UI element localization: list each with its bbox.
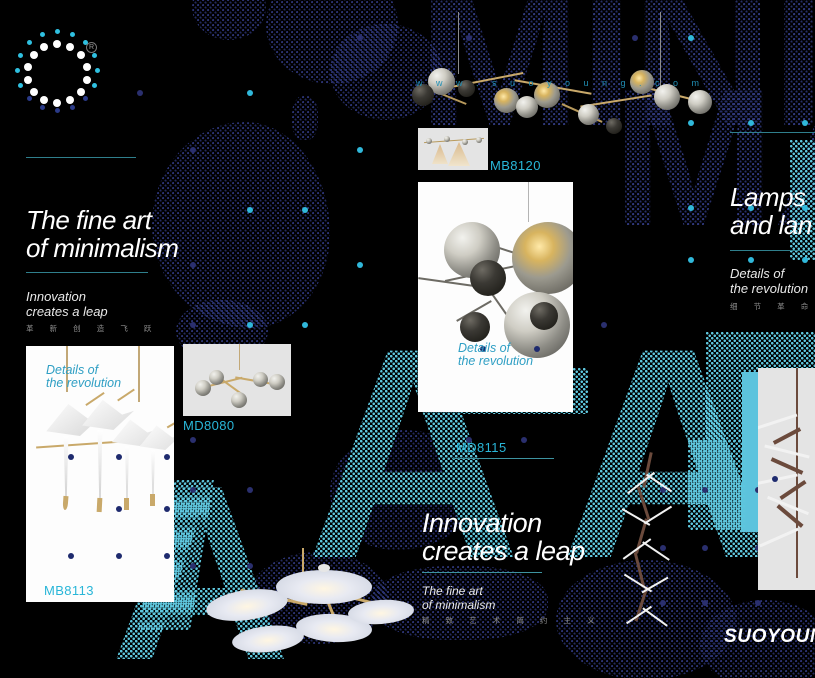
product-code-md8115: MD8115 — [456, 440, 507, 455]
left-rule-bottom — [26, 272, 148, 273]
decorative-blob-4 — [192, 0, 266, 40]
bottom-sub-line2: of minimalism — [422, 597, 495, 613]
left-headline-line1: The fine art — [26, 206, 152, 235]
decorative-blob-1 — [152, 122, 330, 328]
footer-brand-wordmark: SUOYOUNG — [724, 626, 815, 648]
detail-caption-mb8113-line2: the revolution — [46, 375, 121, 391]
right-headline-line1: Lamps — [730, 183, 806, 212]
bottom-headline-line2: creates a leap — [422, 536, 585, 567]
product-card-md8115[interactable] — [418, 182, 573, 412]
tube-chandelier-center-right — [618, 452, 688, 642]
md8115-rule — [452, 458, 554, 459]
right-rule-top — [730, 132, 815, 133]
registered-trademark-icon: R — [86, 42, 97, 53]
product-code-mb8113: MB8113 — [44, 583, 94, 598]
website-url: w w w . s u o y o u n g . c o m — [416, 78, 705, 88]
decorative-blob-5 — [292, 96, 318, 140]
bottom-rule — [422, 572, 542, 573]
bottom-cjk-tagline: 精 致 艺 术 简 约 主 义 — [422, 615, 602, 626]
left-rule-top — [26, 157, 136, 158]
right-rule-bottom — [730, 250, 815, 251]
poster-canvas: MINI MAXI A A A — [0, 0, 815, 678]
right-sub-line2: the revolution — [730, 280, 808, 298]
product-card-tube-chandelier-right[interactable] — [758, 368, 815, 590]
left-headline-line2: of minimalism — [26, 234, 178, 263]
right-cjk-tagline: 细 节 革 命 — [730, 301, 815, 312]
detail-caption-md8115-line2: the revolution — [458, 353, 533, 369]
product-code-md8080: MD8080 — [183, 418, 235, 433]
brand-ring-logo-icon — [22, 38, 92, 108]
disc-chandelier-bottom — [190, 548, 400, 668]
right-headline-line2: and lan — [730, 211, 812, 240]
product-card-mb8120[interactable] — [418, 128, 488, 170]
product-code-mb8120: MB8120 — [490, 158, 541, 173]
product-card-md8080[interactable] — [183, 344, 291, 416]
bottom-headline-line1: Innovation — [422, 508, 542, 539]
left-cjk-tagline: 革 新 创 造 飞 跃 — [26, 323, 158, 334]
cyan-halftone-slab-bottom-right — [688, 440, 746, 530]
left-sub-line2: creates a leap — [26, 303, 108, 321]
